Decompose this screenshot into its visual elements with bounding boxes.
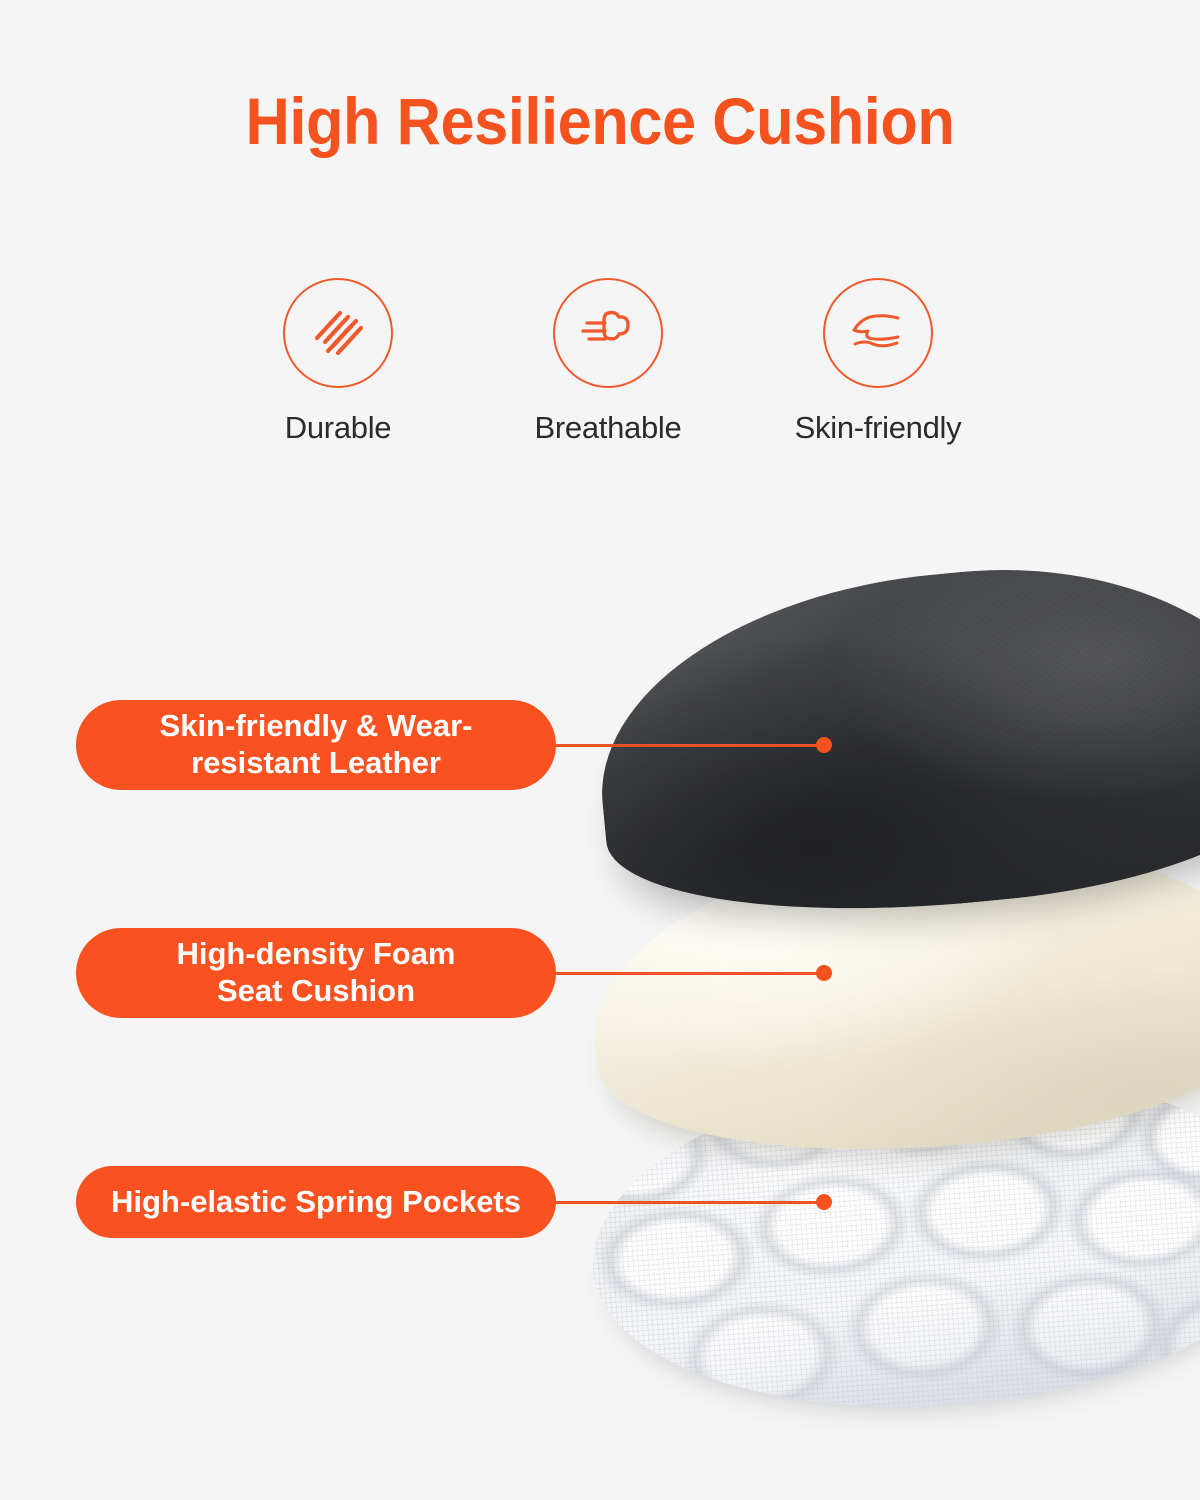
callout-label: Skin-friendly & Wear- resistant Leather	[160, 708, 473, 781]
callout-label: High-density Foam Seat Cushion	[176, 936, 455, 1009]
leader-line-springs	[556, 1201, 818, 1204]
leader-dot-springs	[816, 1194, 832, 1210]
callout-pill-springs[interactable]: High-elastic Spring Pockets	[76, 1166, 556, 1238]
leader-dot-foam	[816, 965, 832, 981]
callout-leather[interactable]: Skin-friendly & Wear- resistant Leather	[76, 700, 832, 790]
leader-line-foam	[556, 972, 818, 975]
callout-label: High-elastic Spring Pockets	[111, 1184, 521, 1221]
infographic-stage: High Resilience Cushion Du	[0, 0, 1200, 1500]
callout-springs[interactable]: High-elastic Spring Pockets	[76, 1166, 832, 1238]
callout-foam[interactable]: High-density Foam Seat Cushion	[76, 928, 832, 1018]
callout-pill-foam[interactable]: High-density Foam Seat Cushion	[76, 928, 556, 1018]
callout-pill-leather[interactable]: Skin-friendly & Wear- resistant Leather	[76, 700, 556, 790]
leader-line-leather	[556, 744, 818, 747]
leader-dot-leather	[816, 737, 832, 753]
